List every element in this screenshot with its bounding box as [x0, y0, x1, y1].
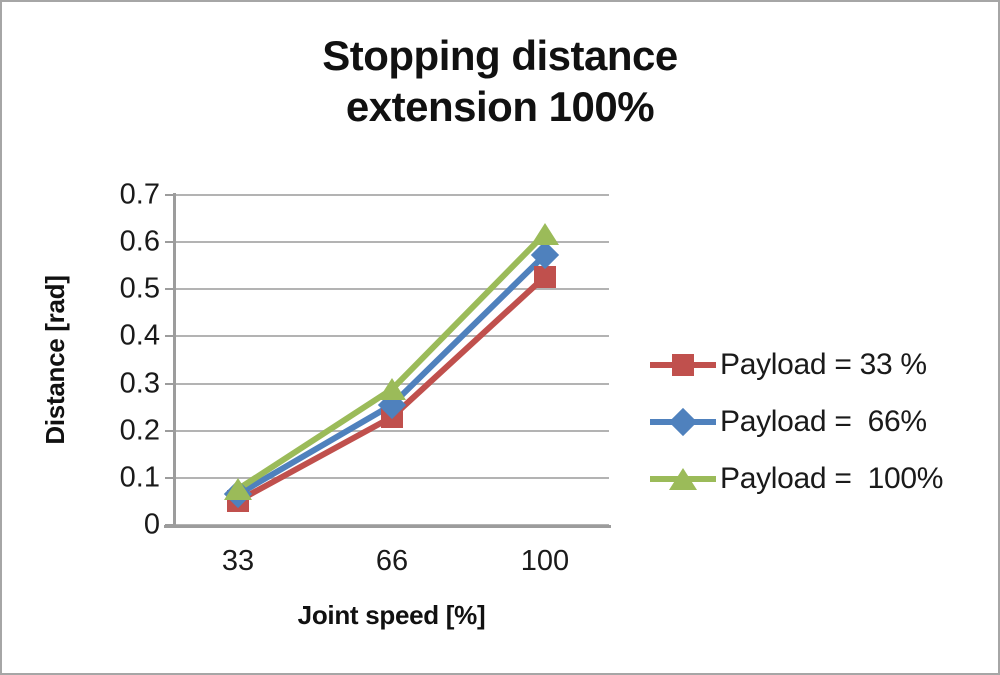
data-point-marker [545, 277, 556, 288]
legend-marker-icon [683, 479, 697, 490]
legend-swatch-square-icon [650, 350, 716, 380]
data-point-marker [392, 389, 406, 400]
y-axis-tick-label: 0.6 [120, 226, 160, 259]
data-point-marker [392, 405, 402, 415]
data-point-marker [545, 234, 559, 245]
legend-label: Payload = 33 % [720, 348, 927, 382]
x-axis-title: Joint speed [%] [174, 600, 609, 631]
y-axis-tick [165, 383, 174, 385]
y-axis-tick [165, 335, 174, 337]
plot-area: 00.10.20.30.40.50.60.7 3366100 [174, 195, 609, 525]
legend-item[interactable]: Payload = 100% [650, 450, 990, 507]
legend-marker-icon [683, 422, 693, 432]
y-axis-tick [165, 288, 174, 290]
legend-label: Payload = 66% [720, 405, 927, 439]
y-axis-title: Distance [rad] [38, 195, 72, 525]
data-point-marker [392, 417, 403, 428]
y-axis-tick [165, 241, 174, 243]
y-axis-tick [165, 194, 174, 196]
data-point-marker [545, 255, 555, 265]
data-point-marker [238, 489, 252, 500]
y-axis-tick-label: 0.3 [120, 367, 160, 400]
y-axis-tick-label: 0.5 [120, 273, 160, 306]
y-axis-tick-label: 0 [144, 509, 160, 542]
y-axis-tick-label: 0.1 [120, 461, 160, 494]
chart-title-line-2: extension 100% [2, 81, 998, 132]
legend-swatch-triangle-icon [650, 464, 716, 494]
y-axis-tick-label: 0.7 [120, 179, 160, 212]
legend-label: Payload = 100% [720, 462, 943, 496]
legend-swatch-diamond-icon [650, 407, 716, 437]
y-axis-tick-label: 0.4 [120, 320, 160, 353]
chart-screenshot: Stopping distance extension 100% Distanc… [0, 0, 1000, 675]
series-line [238, 234, 545, 490]
x-axis-line [164, 525, 611, 528]
chart-title-line-1: Stopping distance [2, 30, 998, 81]
legend-item[interactable]: Payload = 33 % [650, 336, 990, 393]
legend-marker-icon [683, 365, 694, 376]
legend-item[interactable]: Payload = 66% [650, 393, 990, 450]
legend: Payload = 33 %Payload = 66%Payload = 100… [650, 336, 990, 507]
y-axis-tick [165, 477, 174, 479]
y-axis-tick [165, 430, 174, 432]
x-axis-tick-label: 66 [376, 545, 408, 578]
x-axis-tick-label: 33 [222, 545, 254, 578]
chart-title: Stopping distance extension 100% [2, 30, 998, 132]
y-axis-tick-label: 0.2 [120, 414, 160, 447]
x-axis-tick-label: 100 [521, 545, 569, 578]
